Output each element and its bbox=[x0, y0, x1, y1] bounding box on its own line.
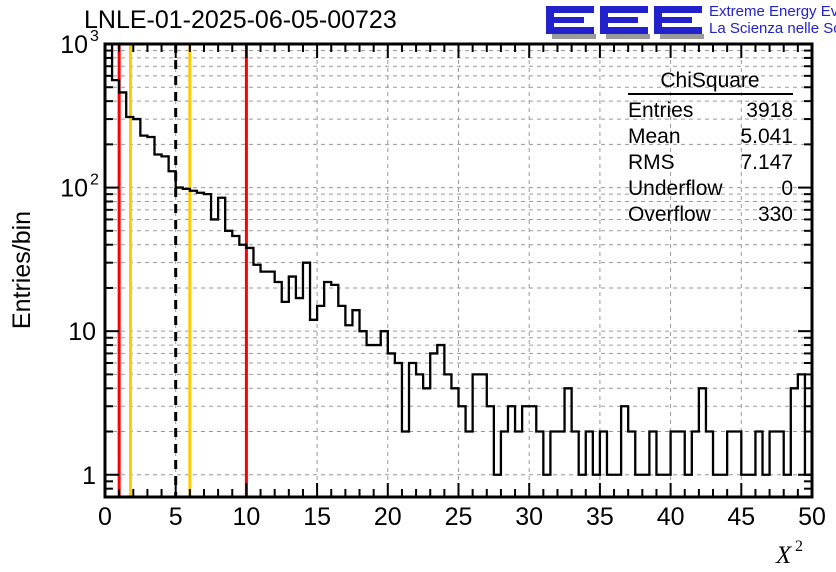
stats-row-value: 330 bbox=[758, 203, 793, 226]
eee-logo-icon bbox=[546, 6, 704, 39]
y-tick-label-group: 10 bbox=[68, 318, 96, 346]
x-axis-title-exponent: 2 bbox=[795, 538, 803, 555]
stats-row-value: 5.041 bbox=[740, 125, 793, 148]
stats-row-label: Entries bbox=[628, 99, 693, 122]
stats-row-label: RMS bbox=[628, 151, 675, 174]
logo-line1: Extreme Energy Events bbox=[709, 3, 836, 20]
x-tick-label: 10 bbox=[232, 503, 260, 531]
y-axis-tick-labels: 110102103 bbox=[60, 28, 99, 490]
y-tick-label: 1 bbox=[82, 462, 96, 490]
y-tick-label: 10 bbox=[60, 175, 88, 203]
x-tick-label: 50 bbox=[798, 503, 826, 531]
stats-row-value: 0 bbox=[781, 177, 793, 200]
x-axis-tick-labels: 05101520253035404550 bbox=[98, 503, 826, 531]
marker-lines bbox=[119, 44, 246, 497]
stats-row-value: 3918 bbox=[746, 99, 793, 122]
x-tick-label: 45 bbox=[727, 503, 755, 531]
y-tick-label: 10 bbox=[68, 318, 96, 346]
y-tick-label-exponent: 3 bbox=[90, 28, 99, 45]
x-tick-label: 15 bbox=[303, 503, 331, 531]
stats-row-label: Overflow bbox=[628, 203, 712, 226]
x-axis-title: X 2 bbox=[775, 538, 803, 569]
x-axis-title-symbol: X bbox=[775, 542, 793, 569]
root-canvas: LNLE-01-2025-06-05-00723 bbox=[0, 0, 836, 572]
stats-rows: Entries3918Mean5.041RMS7.147Underflow0Ov… bbox=[628, 99, 793, 226]
stats-title: ChiSquare bbox=[660, 69, 759, 92]
x-tick-label: 30 bbox=[515, 503, 543, 531]
x-tick-label: 20 bbox=[374, 503, 402, 531]
x-tick-label: 5 bbox=[169, 503, 183, 531]
stats-row-label: Underflow bbox=[628, 177, 723, 200]
statistics-box: ChiSquare bbox=[628, 69, 793, 94]
x-tick-label: 0 bbox=[98, 503, 112, 531]
y-tick-label-group: 103 bbox=[60, 28, 99, 59]
y-tick-label-group: 102 bbox=[60, 172, 99, 203]
histogram-plot: LNLE-01-2025-06-05-00723 bbox=[0, 0, 836, 572]
stats-row-value: 7.147 bbox=[740, 151, 793, 174]
x-tick-label: 25 bbox=[445, 503, 473, 531]
y-tick-label-group: 1 bbox=[82, 462, 96, 490]
y-axis-title: Entries/bin bbox=[8, 211, 36, 329]
logo-line2: La Scienza nelle Scuole bbox=[709, 20, 836, 37]
x-tick-label: 40 bbox=[657, 503, 685, 531]
x-tick-label: 35 bbox=[586, 503, 614, 531]
y-tick-label-exponent: 2 bbox=[90, 172, 99, 189]
y-tick-label: 10 bbox=[60, 31, 88, 59]
page-title: LNLE-01-2025-06-05-00723 bbox=[84, 6, 397, 34]
stats-row-label: Mean bbox=[628, 125, 681, 148]
